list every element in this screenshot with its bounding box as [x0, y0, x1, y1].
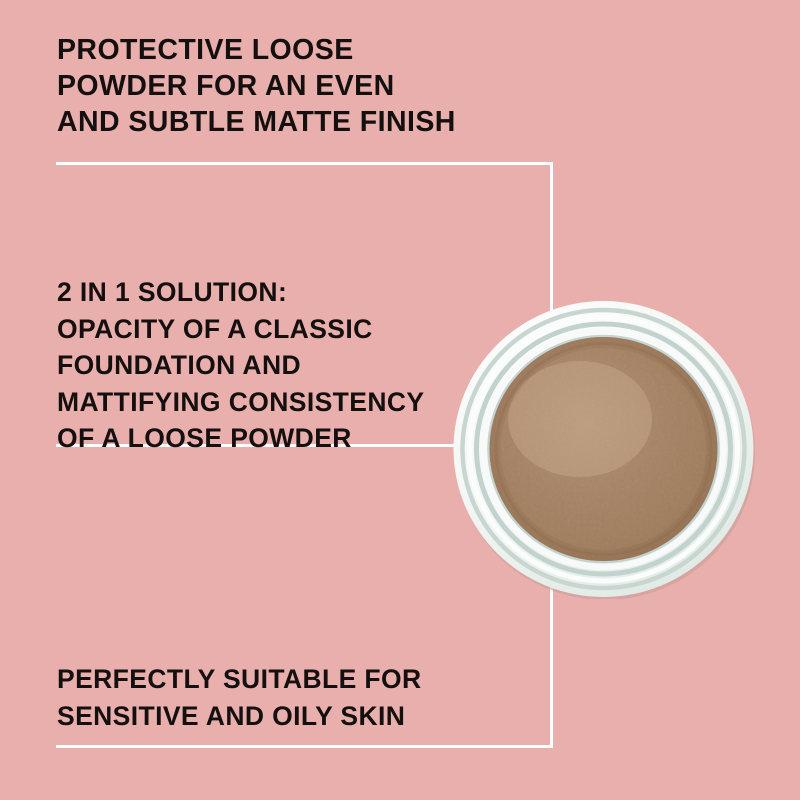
page-title: PROTECTIVE LOOSE POWDER FOR AN EVEN AND …	[57, 32, 456, 140]
loose-powder-jar-image	[452, 299, 755, 599]
benefit-primary-text: 2 IN 1 SOLUTION: OPACITY OF A CLASSIC FO…	[57, 274, 424, 457]
powder-jar-illustration	[452, 299, 755, 599]
promo-graphic: PROTECTIVE LOOSE POWDER FOR AN EVEN AND …	[0, 0, 800, 800]
benefit-secondary-text: PERFECTLY SUITABLE FOR SENSITIVE AND OIL…	[57, 661, 422, 734]
frame-line-top	[56, 162, 553, 165]
frame-line-bottom	[56, 745, 553, 748]
